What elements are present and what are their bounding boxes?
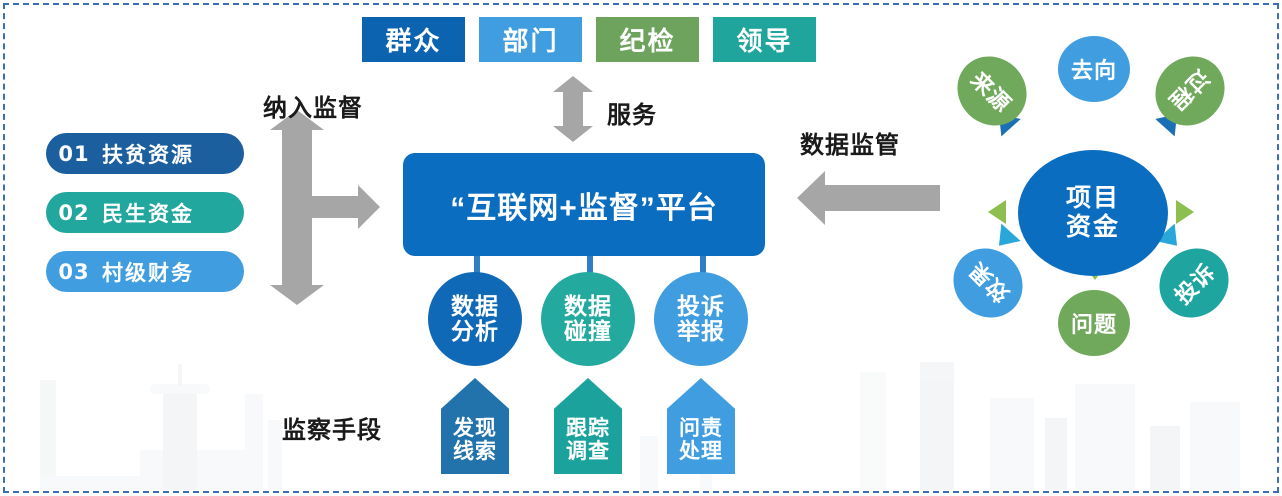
arrowbox-line-1: 发现 <box>453 417 497 441</box>
pill-label: 村级财务 <box>102 257 194 287</box>
pill-cunji-caiwu[interactable]: 03 村级财务 <box>46 251 244 292</box>
arrowbox-line-2: 处理 <box>679 440 723 464</box>
pill-label: 扶贫资源 <box>102 139 194 169</box>
platform-card[interactable]: “互联网+监督”平台 <box>403 153 765 256</box>
tab-bumen[interactable]: 部门 <box>479 17 582 62</box>
label-data-supervision: 数据监管 <box>800 125 900 160</box>
bubble-problem-label: 问题 <box>1071 307 1117 339</box>
arrow-right-branch-icon <box>310 196 358 218</box>
arrowbox-line-2: 线索 <box>453 440 497 464</box>
tab-jijian-label: 纪检 <box>619 21 675 58</box>
fund-hub-line-2: 资金 <box>1066 213 1120 242</box>
bubble-source-label: 来源 <box>964 63 1019 118</box>
bubble-process[interactable]: 过程 <box>1141 42 1239 140</box>
tab-lingdao[interactable]: 领导 <box>713 17 816 62</box>
pill-number: 01 <box>46 142 102 166</box>
circle-line-2: 碰撞 <box>564 319 612 344</box>
background-artwork <box>0 360 1276 490</box>
label-inspection-means: 监察手段 <box>282 410 382 445</box>
pill-minsheng-zijin[interactable]: 02 民生资金 <box>46 192 244 233</box>
fund-hub[interactable]: 项目 资金 <box>1018 150 1168 276</box>
circle-complaint-report[interactable]: 投诉 举报 <box>654 272 748 366</box>
bubble-destination-label: 去向 <box>1071 53 1117 85</box>
bubble-effect-label: 效果 <box>960 255 1015 310</box>
bubble-source[interactable]: 来源 <box>943 42 1041 140</box>
arrowbox-accountability[interactable]: 问责 处理 <box>667 378 735 474</box>
arrowbox-line-1: 问责 <box>679 417 723 441</box>
bubble-effect[interactable]: 效果 <box>939 234 1037 332</box>
stakeholder-tabs: 群众 部门 纪检 领导 <box>362 17 816 62</box>
connector-triangle-right-icon <box>1176 200 1194 224</box>
fund-hub-line-1: 项目 <box>1066 184 1120 213</box>
pill-fupin-ziyuan[interactable]: 01 扶贫资源 <box>46 133 244 174</box>
circle-line-1: 投诉 <box>677 294 725 319</box>
arrow-vertical-double-icon <box>282 130 312 285</box>
circle-line-1: 数据 <box>564 294 612 319</box>
bubble-complaint[interactable]: 投诉 <box>1145 234 1243 332</box>
tab-qunzhong[interactable]: 群众 <box>362 17 465 62</box>
slide-canvas: 群众 部门 纪检 领导 01 扶贫资源 02 民生资金 03 村级财务 纳入监督… <box>0 0 1282 496</box>
circle-data-analysis[interactable]: 数据 分析 <box>428 272 522 366</box>
tab-qunzhong-label: 群众 <box>385 21 441 58</box>
bubble-destination[interactable]: 去向 <box>1058 36 1130 102</box>
arrowbox-find-clues[interactable]: 发现 线索 <box>441 378 509 474</box>
tab-jijian[interactable]: 纪检 <box>596 17 699 62</box>
circle-data-collision[interactable]: 数据 碰撞 <box>541 272 635 366</box>
arrowbox-line-2: 调查 <box>566 440 610 464</box>
arrowbox-track-investigate[interactable]: 跟踪 调查 <box>554 378 622 474</box>
label-service: 服务 <box>607 95 657 130</box>
resource-pill-list: 01 扶贫资源 02 民生资金 03 村级财务 <box>46 133 244 292</box>
arrow-left-data-icon <box>825 185 940 211</box>
connector-triangle-left-icon <box>988 200 1006 224</box>
pill-number: 02 <box>46 201 102 225</box>
tab-lingdao-label: 领导 <box>736 21 792 58</box>
circle-line-2: 举报 <box>677 319 725 344</box>
pill-label: 民生资金 <box>102 198 194 228</box>
label-into-supervision: 纳入监督 <box>263 88 363 123</box>
arrowbox-line-1: 跟踪 <box>566 417 610 441</box>
circle-line-1: 数据 <box>451 294 499 319</box>
arrow-vertical-service-icon <box>563 92 583 126</box>
circle-line-2: 分析 <box>451 319 499 344</box>
platform-label: “互联网+监督”平台 <box>450 183 718 227</box>
pill-number: 03 <box>46 260 102 284</box>
bubble-complaint-label: 投诉 <box>1166 255 1221 310</box>
fund-cluster: 项目 资金 来源 去向 过程 效果 问题 投诉 <box>930 18 1280 358</box>
bubble-problem[interactable]: 问题 <box>1058 290 1130 356</box>
tab-bumen-label: 部门 <box>502 21 558 58</box>
bubble-process-label: 过程 <box>1162 63 1217 118</box>
